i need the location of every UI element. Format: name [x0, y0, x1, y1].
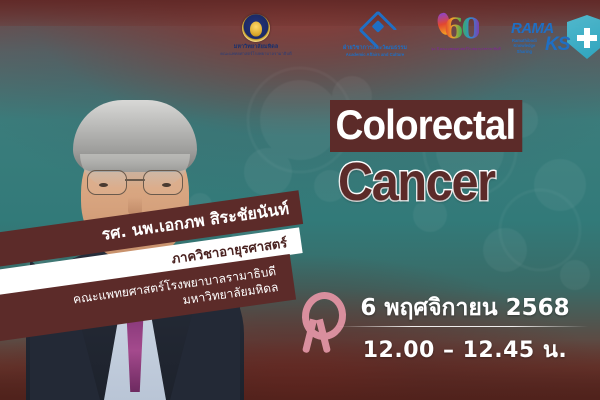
sixty-anniversary-logo: 60 ๖๐ ปี คณะแพทยศาสตร์โรงพยาบาลรามาธิบดี	[423, 13, 509, 52]
title-line-1: Colorectal	[330, 100, 523, 152]
page-title: Colorectal Cancer	[330, 100, 592, 209]
medical-cross-icon	[577, 28, 597, 48]
rama-ks-tagline-line3: Sharing	[512, 49, 537, 54]
sixty-anniversary-icon: 60	[436, 13, 496, 46]
schedule-block: 6 พฤศจิกายน 2568 12.00 – 12.45 น.	[296, 288, 596, 368]
awareness-ribbon-icon	[296, 292, 338, 354]
rama-ks-logo: RAMA KS Ramathibodi Knowledge Sharing	[511, 12, 600, 66]
webinar-poster: มหาวิทยาลัยมหิดล คณะแพทยศาสตร์โรงพยาบาลร…	[0, 0, 600, 400]
title-line-2: Cancer	[338, 155, 567, 209]
rama-ks-tagline: Ramathibodi Knowledge Sharing	[512, 38, 537, 54]
event-date: 6 พฤศจิกายน 2568	[340, 290, 590, 326]
glasses-icon	[87, 170, 183, 194]
portrait-hair	[73, 100, 197, 172]
event-time: 12.00 – 12.45 น.	[340, 332, 590, 367]
academic-affairs-logo: ฝ่ายวิชาการและวัฒนธรรม Academic Affairs …	[323, 14, 427, 58]
anniversary-caption-th: ๖๐ ปี คณะแพทยศาสตร์โรงพยาบาลรามาธิบดี	[423, 47, 509, 52]
academic-affairs-diamond-icon	[360, 14, 390, 42]
speaker-info: รศ. นพ.เอกภพ สิระชัยนันท์ ภาควิชาอายุรศา…	[0, 228, 324, 356]
anniversary-number: 60	[444, 15, 479, 43]
rama-ks-word2: KS	[545, 34, 569, 56]
academic-affairs-name-en: Academic Affairs and Culture	[323, 52, 427, 58]
schedule-divider	[336, 326, 588, 327]
